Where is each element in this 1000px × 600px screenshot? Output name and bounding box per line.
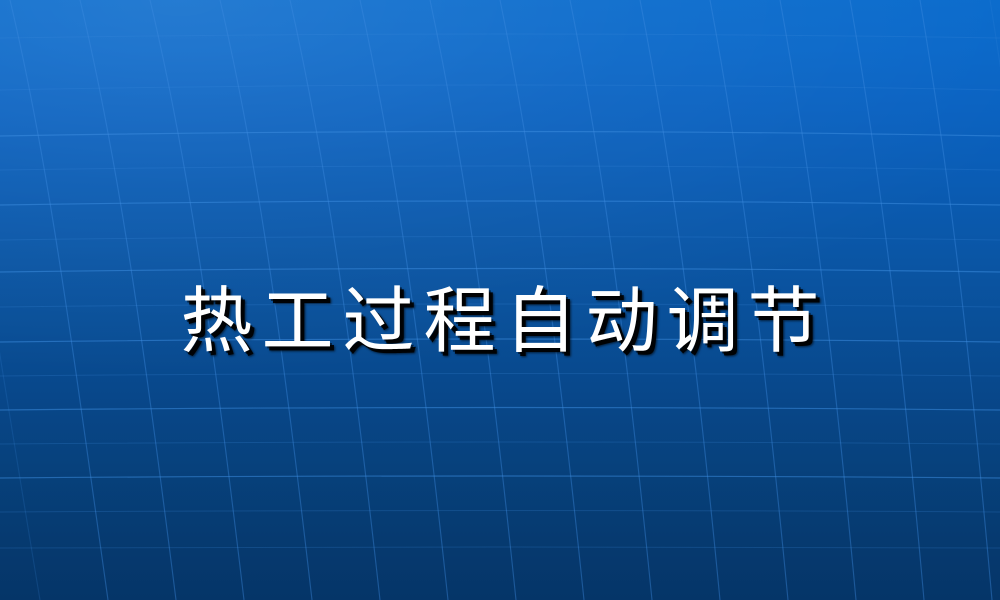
presentation-slide: 热工过程自动调节 [0,0,1000,600]
page-title: 热工过程自动调节 [171,285,828,357]
title-placeholder: 热工过程自动调节 [0,266,1000,376]
